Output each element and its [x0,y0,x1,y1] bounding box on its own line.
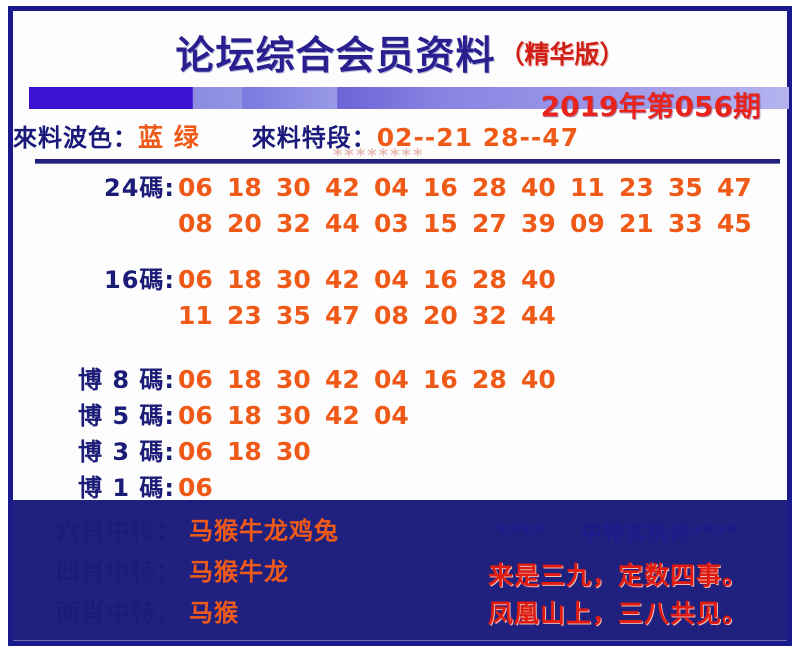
number-cell: 20 [423,298,472,334]
number-cell: 44 [325,206,374,242]
number-row-values: 061830420416284011233547 [175,170,766,206]
number-cell: 18 [227,170,276,206]
number-rows: 24碼:061830420416284011233547082032440315… [13,169,787,505]
zodiac-row: 四肖中特：马猴牛龙 [13,552,433,593]
poem-line-1: 来是三九，定数四事。 [433,557,800,595]
number-cell: 42 [325,362,374,398]
number-cell: 42 [325,170,374,206]
number-cell: 11 [570,170,619,206]
number-cell: 06 [178,170,227,206]
title-edition: （精华版） [500,40,625,69]
number-row-label: 博 5 碼: [13,398,175,434]
poem-heading: ****中特玄机诗**** [433,511,800,547]
number-row-label: 博 3 碼: [13,434,175,470]
number-cell: 06 [178,362,227,398]
number-cell: 47 [325,298,374,334]
zodiac-label: 两肖中特： [13,593,181,634]
number-cell: 30 [276,362,325,398]
number-cell: 21 [619,206,668,242]
number-row-label: 24碼: [13,170,175,206]
number-cell: 30 [276,262,325,298]
zodiac-value: 马猴 [181,599,239,627]
bottom-section: 六肖中特：马猴牛龙鸡兔四肖中特：马猴牛龙两肖中特：马猴 ****中特玄机诗***… [13,511,787,651]
number-cell: 42 [325,262,374,298]
number-cell: 09 [570,206,619,242]
number-row: 24碼:061830420416284011233547 [13,169,787,205]
zodiac-label: 六肖中特： [13,511,181,552]
content-area: 论坛综合会员资料（精华版） 2019年第056期 來料波色：蓝 绿 來料特段：0… [13,11,787,641]
zodiac-label: 四肖中特： [13,552,181,593]
number-cell: 16 [423,170,472,206]
number-cell: 32 [276,206,325,242]
number-row-values: 06 [175,470,227,506]
color-label: 來料波色： [13,124,138,152]
number-cell: 06 [178,470,227,506]
zodiac-row: 两肖中特：马猴 [13,593,433,634]
zodiac-value: 马猴牛龙 [181,558,289,586]
title-text: 论坛综合会员资料 [175,34,495,79]
number-cell: 11 [178,298,227,334]
number-cell: 18 [227,434,276,470]
outer-frame: 论坛综合会员资料（精华版） 2019年第056期 來料波色：蓝 绿 來料特段：0… [8,6,792,646]
divider-top [35,159,780,163]
number-row: 博 5 碼:0618304204 [13,397,787,433]
number-cell: 40 [521,362,570,398]
number-cell: 28 [472,170,521,206]
row-spacer [13,333,787,361]
number-row-label: 博 1 碼: [13,470,175,506]
number-row-values: 061830 [175,434,325,470]
number-cell: 28 [472,262,521,298]
number-cell: 18 [227,362,276,398]
number-cell: 42 [325,398,374,434]
number-cell: 08 [374,298,423,334]
number-row-values: 0618304204 [175,398,423,434]
number-cell: 45 [717,206,766,242]
number-cell: 04 [374,170,423,206]
number-row-values: 0618304204162840 [175,262,570,298]
number-cell: 47 [717,170,766,206]
number-cell: 35 [276,298,325,334]
number-cell: 35 [668,170,717,206]
number-cell: 08 [178,206,227,242]
number-cell: 04 [374,362,423,398]
color-values: 蓝 绿 [138,123,200,152]
number-cell: 27 [472,206,521,242]
number-cell: 03 [374,206,423,242]
number-row-values: 1123354708203244 [175,298,570,334]
number-cell: 18 [227,262,276,298]
number-cell: 06 [178,434,227,470]
poem-block: ****中特玄机诗**** 来是三九，定数四事。 凤凰山上，三八共见。 [433,511,800,633]
number-cell: 30 [276,398,325,434]
row-spacer [13,241,787,261]
number-row: 博 1 碼:06 [13,469,787,505]
number-cell: 39 [521,206,570,242]
number-cell: 33 [668,206,717,242]
zodiac-list: 六肖中特：马猴牛龙鸡兔四肖中特：马猴牛龙两肖中特：马猴 [13,511,433,634]
poem-line-2: 凤凰山上，三八共见。 [433,595,800,633]
number-cell: 40 [521,170,570,206]
number-row: 1123354708203244 [13,297,787,333]
number-cell: 40 [521,262,570,298]
number-cell: 04 [374,398,423,434]
zodiac-row: 六肖中特：马猴牛龙鸡兔 [13,511,433,552]
number-cell: 06 [178,398,227,434]
number-cell: 16 [423,262,472,298]
number-cell: 04 [374,262,423,298]
number-cell: 32 [472,298,521,334]
number-cell: 28 [472,362,521,398]
number-cell: 30 [276,434,325,470]
poem-heading-text: 中特玄机诗**** [581,521,739,545]
number-cell: 30 [276,170,325,206]
number-row: 博 3 碼:061830 [13,433,787,469]
number-row-values: 082032440315273909213345 [175,206,766,242]
number-row: 082032440315273909213345 [13,205,787,241]
number-row-label: 博 8 碼: [13,362,175,398]
number-cell: 23 [227,298,276,334]
number-row-label: 16碼: [13,262,175,298]
zodiac-value: 马猴牛龙鸡兔 [181,517,339,545]
page-title: 论坛综合会员资料（精华版） [13,25,787,81]
number-cell: 06 [178,262,227,298]
number-row-values: 0618304204162840 [175,362,570,398]
number-row: 16碼:0618304204162840 [13,261,787,297]
number-cell: 18 [227,398,276,434]
color-group: 來料波色：蓝 绿 [13,118,200,154]
poem-stars-left: **** [497,521,545,545]
number-cell: 15 [423,206,472,242]
number-cell: 44 [521,298,570,334]
number-cell: 16 [423,362,472,398]
number-cell: 20 [227,206,276,242]
number-row: 博 8 碼:0618304204162840 [13,361,787,397]
number-cell: 23 [619,170,668,206]
page-root: 论坛综合会员资料（精华版） 2019年第056期 來料波色：蓝 绿 來料特段：0… [0,0,800,653]
